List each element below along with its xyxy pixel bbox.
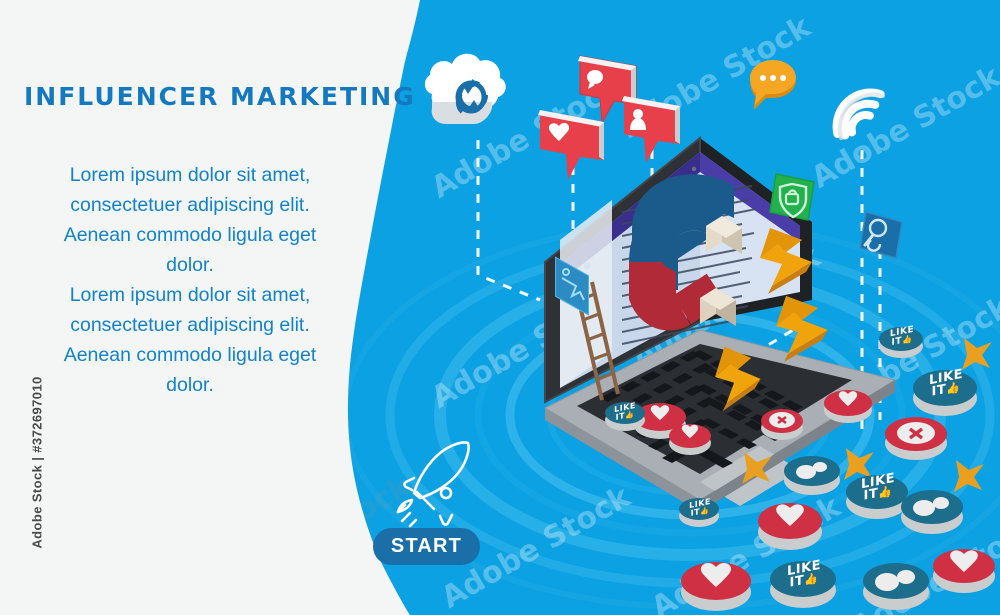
start-button[interactable]: START — [373, 528, 480, 565]
rocket-icon — [398, 442, 469, 526]
stock-watermark-id: Adobe Stock | #372697010 — [30, 363, 45, 563]
rocket-layer — [0, 0, 1000, 615]
illustration-canvas: Adobe Stock Adobe Stock Adobe Stock Adob… — [0, 0, 1000, 615]
